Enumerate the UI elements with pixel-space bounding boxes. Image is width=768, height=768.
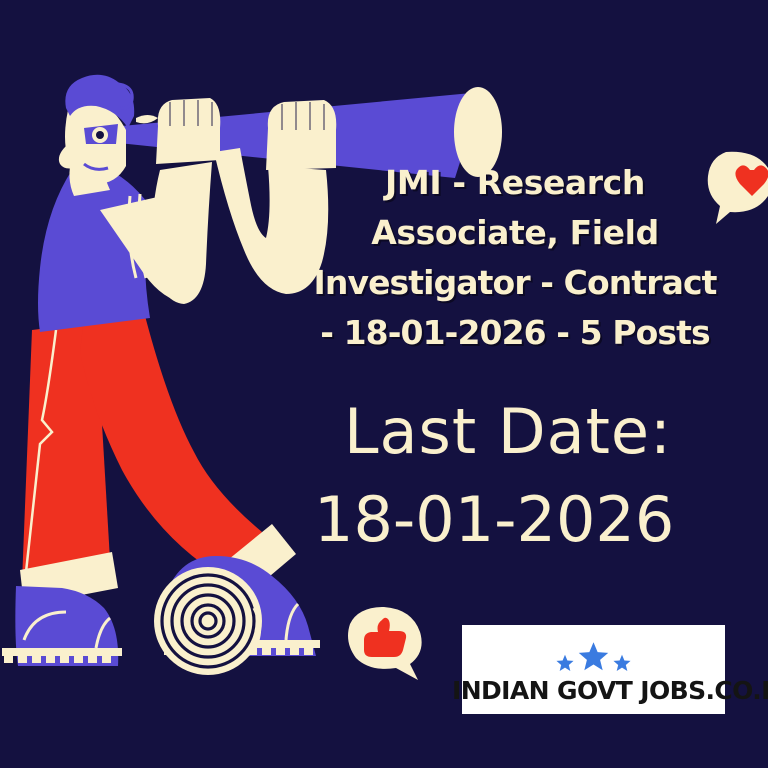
last-date-label: Last Date:: [300, 388, 768, 476]
headline-line-4: - 18-01-2026 - 5 Posts: [280, 308, 750, 358]
last-date-block: Last Date: 18-01-2026: [300, 388, 768, 564]
spiral-ball: [154, 567, 262, 675]
near-hand: [156, 98, 220, 164]
star-small-right-icon: [613, 654, 631, 672]
headline-line-1: JMI - Research: [280, 158, 750, 208]
logo-stars: [462, 638, 725, 672]
headline-line-3: Investigator - Contract: [280, 258, 750, 308]
star-large-center-icon: [578, 641, 609, 672]
headline-block: JMI - Research Associate, Field Investig…: [280, 158, 750, 358]
star-small-left-icon: [556, 654, 574, 672]
last-date-value: 18-01-2026: [300, 476, 768, 564]
logo-brand-text: INDIAN GOVT JOBS.CO.IN: [452, 676, 735, 705]
headline-line-2: Associate, Field: [280, 208, 750, 258]
thumbs-up-bubble: [348, 607, 422, 680]
job-notification-poster: JMI - Research Associate, Field Investig…: [0, 0, 768, 768]
site-logo[interactable]: INDIAN GOVT JOBS.CO.IN: [462, 625, 725, 714]
